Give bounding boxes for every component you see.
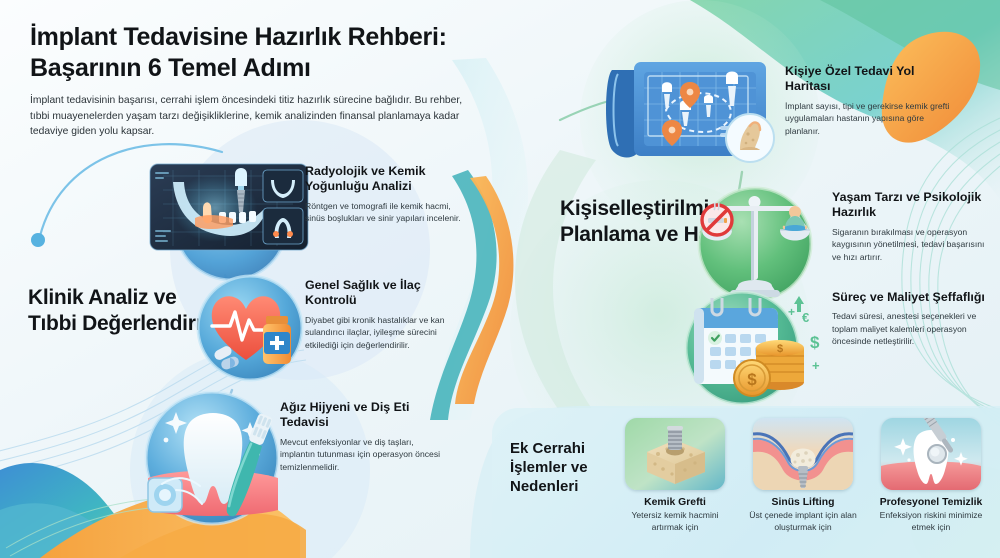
step-title: Ağız Hijyeni ve Diş Eti Tedavisi xyxy=(280,400,450,431)
svg-text:$: $ xyxy=(747,370,757,389)
step-genel-saglik: Genel Sağlık ve İlaç Kontrolü Diyabet gi… xyxy=(305,278,465,351)
icon-xray-monitor-icon xyxy=(143,146,313,286)
svg-text:$: $ xyxy=(810,333,820,352)
step-desc: Sigaranın bırakılması ve operasyon kaygı… xyxy=(832,226,994,264)
icon-heart-medication-icon xyxy=(190,268,310,388)
icon-blueprint-implant-icon xyxy=(600,48,780,173)
infographic-canvas: İmplant Tedavisine Hazırlık Rehberi: Baş… xyxy=(0,0,1000,558)
procedure-desc: Üst çenede implant için alan oluşturmak … xyxy=(745,510,861,533)
procedure-desc: Yetersiz kemik hacmini artırmak için xyxy=(617,510,733,533)
step-radyoloji: Radyolojik ve Kemik Yoğunluğu Analizi Rö… xyxy=(305,164,465,225)
step-agiz-hijyeni: Ağız Hijyeni ve Diş Eti Tedavisi Mevcut … xyxy=(280,400,450,473)
svg-text:+: + xyxy=(788,305,795,319)
procedure-card[interactable]: Profesyonel Temizlik Enfeksiyon riskini … xyxy=(873,418,989,533)
page-title: İmplant Tedavisine Hazırlık Rehberi: Baş… xyxy=(30,22,500,83)
page-subtitle: İmplant tedavisinin başarısı, cerrahi iş… xyxy=(30,93,470,140)
procedure-name: Profesyonel Temizlik xyxy=(873,497,989,508)
procedure-card-list: Kemik Grefti Yetersiz kemik hacmini artı… xyxy=(617,418,989,533)
step-desc: Mevcut enfeksiyonlar ve diş taşları, imp… xyxy=(280,436,450,474)
procedure-card[interactable]: Sinüs Lifting Üst çenede implant için al… xyxy=(745,418,861,533)
svg-text:$: $ xyxy=(777,343,783,355)
step-yasam-tarzi: Yaşam Tarzı ve Psikolojik Hazırlık Sigar… xyxy=(832,190,994,263)
icon-calendar-coins-icon: $ $ € $ + + xyxy=(676,286,826,416)
procedure-card[interactable]: Kemik Grefti Yetersiz kemik hacmini artı… xyxy=(617,418,733,533)
bone-graft-icon xyxy=(625,418,725,490)
step-desc: İmplant sayısı, tipi ve gerekirse kemik … xyxy=(785,100,960,138)
svg-text:+: + xyxy=(812,358,820,373)
step-title: Radyolojik ve Kemik Yoğunluğu Analizi xyxy=(305,164,465,195)
step-desc: Diyabet gibi kronik hastalıklar ve kan s… xyxy=(305,314,465,352)
icon-tooth-brush-icon xyxy=(132,386,292,536)
svg-text:€: € xyxy=(802,310,809,325)
procedure-name: Sinüs Lifting xyxy=(745,497,861,508)
step-title: Genel Sağlık ve İlaç Kontrolü xyxy=(305,278,465,309)
step-maliyet: Süreç ve Maliyet Şeffaflığı Tedavi süres… xyxy=(832,290,994,348)
step-desc: Röntgen ve tomografi ile kemik hacmi, si… xyxy=(305,200,465,225)
sinus-lift-icon xyxy=(753,418,853,490)
dental-cleaning-icon xyxy=(881,418,981,490)
procedure-desc: Enfeksiyon riskini minimize etmek için xyxy=(873,510,989,533)
additional-procedures-title: Ek Cerrahi İşlemler ve Nedenleri xyxy=(510,440,620,496)
step-title: Kişiye Özel Tedavi Yol Haritası xyxy=(785,64,960,95)
header-block: İmplant Tedavisine Hazırlık Rehberi: Baş… xyxy=(30,22,500,140)
page-title-line1: İmplant Tedavisine Hazırlık Rehberi: xyxy=(30,23,447,51)
step-yol-haritasi: Kişiye Özel Tedavi Yol Haritası İmplant … xyxy=(785,64,960,137)
procedure-name: Kemik Grefti xyxy=(617,497,733,508)
page-title-line2: Başarının 6 Temel Adımı xyxy=(30,54,311,82)
step-title: Yaşam Tarzı ve Psikolojik Hazırlık xyxy=(832,190,994,221)
step-desc: Tedavi süresi, anestesi seçenekleri ve t… xyxy=(832,310,994,348)
step-title: Süreç ve Maliyet Şeffaflığı xyxy=(832,290,994,305)
